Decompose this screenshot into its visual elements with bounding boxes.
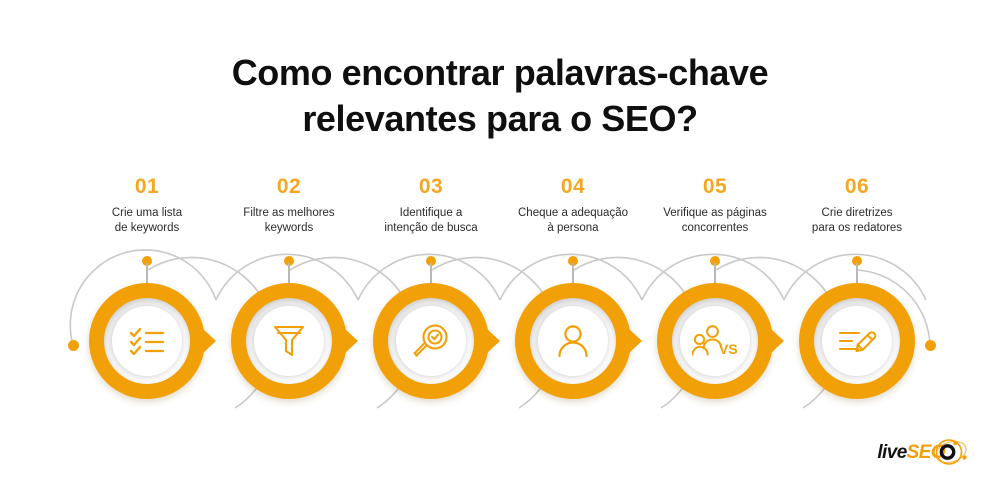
funnel-filter-icon — [273, 324, 305, 358]
step-02-circle[interactable] — [231, 283, 347, 399]
step-01[interactable]: 01 Crie uma lista de keywords — [72, 0, 222, 484]
versus-label: VS — [719, 341, 738, 357]
steps-row: 01 Crie uma lista de keywords — [0, 0, 1000, 484]
step-05-circle[interactable]: VS — [657, 283, 773, 399]
step-01-circle[interactable] — [89, 283, 205, 399]
step-06-number: 06 — [773, 176, 941, 197]
pencil-write-icon — [838, 324, 876, 358]
step-03-icon-well — [396, 306, 466, 376]
step-04-circle[interactable] — [515, 283, 631, 399]
step-02-icon-well — [254, 306, 324, 376]
person-icon — [557, 324, 589, 358]
people-versus-icon: VS — [692, 324, 738, 358]
step-05[interactable]: 05 Verifique as páginas concorrentes — [640, 0, 790, 484]
step-04-icon-well — [538, 306, 608, 376]
logo-text-live: live — [877, 442, 906, 463]
step-05-icon-well: VS — [680, 306, 750, 376]
logo-orbit-icon — [932, 435, 972, 469]
step-06-label: 06 Crie diretrizes para os redatores — [773, 176, 941, 237]
step-06[interactable]: 06 Crie diretrizes para os redatores — [782, 0, 932, 484]
step-04[interactable]: 04 Cheque a adequação à persona — [498, 0, 648, 484]
step-06-icon-well — [822, 306, 892, 376]
step-03-circle[interactable] — [373, 283, 489, 399]
checklist-icon — [129, 325, 165, 357]
liveseo-logo[interactable]: liveSEO — [877, 432, 972, 472]
infographic-canvas: Como encontrar palavras-chave relevantes… — [0, 0, 1000, 484]
step-06-text: Crie diretrizes para os redatores — [773, 206, 941, 237]
step-06-circle[interactable] — [799, 283, 915, 399]
step-03[interactable]: 03 Identifique a intenção de busca — [356, 0, 506, 484]
step-02[interactable]: 02 Filtre as melhores keywords — [214, 0, 364, 484]
step-01-icon-well — [112, 306, 182, 376]
magnifier-check-icon — [413, 323, 449, 359]
